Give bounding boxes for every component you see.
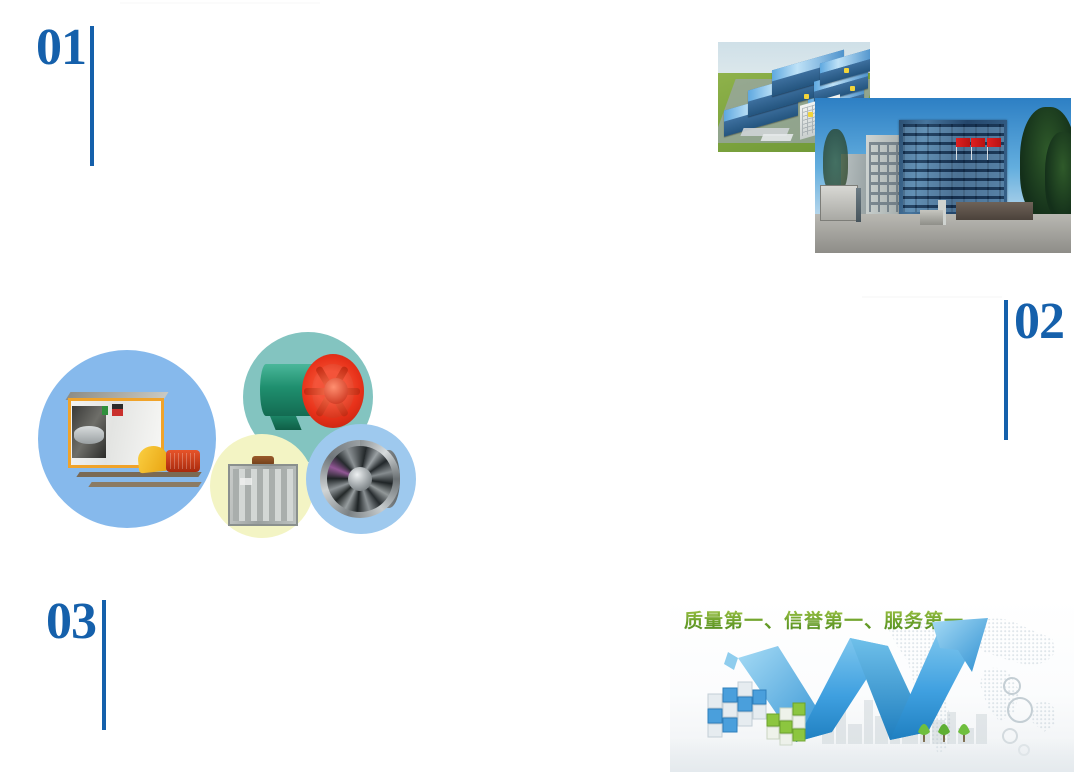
fan-base-rail bbox=[76, 472, 201, 477]
render-marker bbox=[844, 68, 849, 73]
top-hairline bbox=[120, 2, 320, 4]
damper-blades bbox=[233, 469, 293, 521]
growth-chart-banner: 质量第一、信誉第一、服务第一 bbox=[670, 598, 1074, 772]
control-panel-top bbox=[112, 404, 123, 409]
render-marker bbox=[808, 112, 813, 117]
section-02-hairline bbox=[862, 296, 1002, 298]
perimeter-wall bbox=[956, 202, 1033, 221]
red-flag bbox=[956, 138, 970, 147]
guard-kiosk bbox=[820, 185, 858, 221]
glass-facade bbox=[903, 124, 1004, 212]
centrifugal-impeller bbox=[74, 426, 104, 444]
section-rule-03 bbox=[102, 600, 106, 730]
axial-flow-fan-image bbox=[260, 350, 364, 442]
fan-base-rail bbox=[88, 482, 201, 487]
parked-object bbox=[920, 210, 943, 226]
office-building-photo bbox=[815, 98, 1071, 253]
section-number-02: 02 bbox=[1014, 296, 1064, 348]
banner-reflection bbox=[670, 738, 1074, 772]
render-marker bbox=[850, 86, 855, 91]
damper-label-plate bbox=[240, 478, 252, 485]
render-marker bbox=[804, 94, 809, 99]
electric-motor bbox=[166, 450, 200, 472]
gate-post bbox=[856, 188, 861, 222]
section-rule-02 bbox=[1004, 300, 1008, 440]
cabinet-centrifugal-fan-image bbox=[60, 390, 200, 500]
section-marker-01: 01 bbox=[36, 22, 94, 166]
red-flag bbox=[987, 138, 1001, 147]
section-marker-02: 02 bbox=[1004, 296, 1064, 440]
render-truck bbox=[761, 134, 794, 141]
metal-bladed-axial-fan-image bbox=[320, 440, 404, 520]
section-rule-01 bbox=[90, 26, 94, 166]
section-number-01: 01 bbox=[36, 22, 86, 74]
cabinet-green-label bbox=[102, 406, 108, 415]
tree bbox=[1045, 132, 1071, 219]
section-marker-03: 03 bbox=[46, 596, 106, 730]
yellow-belt-guard bbox=[137, 445, 170, 474]
product-circles-cluster bbox=[38, 332, 428, 552]
fan-hub bbox=[348, 467, 372, 491]
fire-smoke-damper-image bbox=[228, 456, 298, 528]
page-root: 01 02 03 bbox=[0, 0, 1074, 772]
blue-cube-stack-icon bbox=[706, 676, 768, 738]
fan-hub bbox=[324, 378, 348, 404]
section-number-03: 03 bbox=[46, 596, 96, 648]
red-flag bbox=[971, 138, 985, 147]
